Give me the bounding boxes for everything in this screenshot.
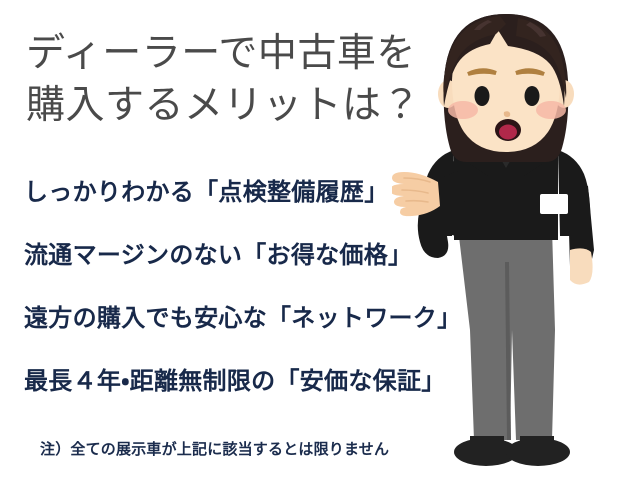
page-title: ディーラーで中古車を 購入するメリットは？	[26, 28, 426, 132]
page-title-line-1: ディーラーで中古車を	[26, 28, 426, 80]
cheek-right-illustration	[536, 101, 566, 119]
eye-right-illustration	[525, 86, 540, 106]
mouth-illustration	[495, 119, 521, 141]
cheek-left-illustration	[448, 101, 478, 119]
shoes-illustration	[454, 436, 570, 466]
eyebrow-left-illustration	[468, 70, 496, 74]
eyebrow-right-illustration	[516, 70, 544, 74]
page-title-line-2: 購入するメリットは？	[26, 80, 426, 132]
name-tag-illustration	[540, 194, 568, 214]
trousers-illustration	[458, 228, 555, 440]
poster-canvas: ディーラーで中古車を 購入するメリットは？ しっかりわかる「点検整備履歴」 流通…	[0, 0, 640, 480]
eye-left-illustration	[475, 86, 490, 106]
female-staff-presenting-illustration	[392, 0, 640, 480]
footnote-text: 注）全ての展示車が上記に該当するとは限りません	[40, 438, 389, 459]
